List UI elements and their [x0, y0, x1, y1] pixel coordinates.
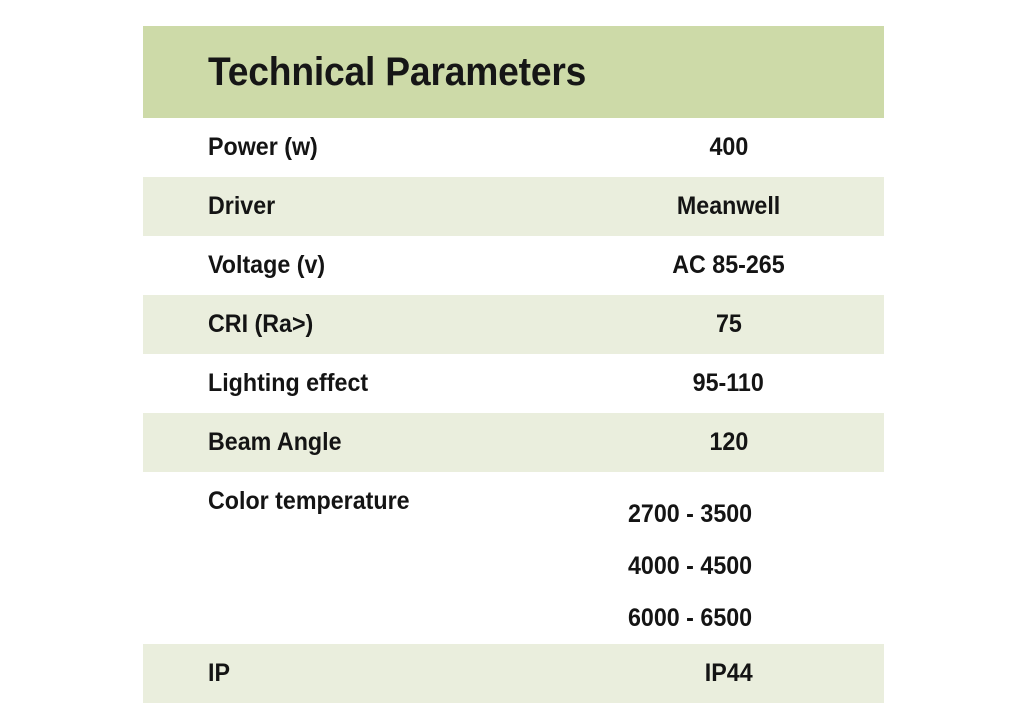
row-value: 120	[709, 430, 748, 455]
table-row: Beam Angle 120	[143, 413, 884, 472]
row-label: Color temperature	[208, 489, 410, 514]
row-value: 75	[716, 312, 742, 337]
row-value: IP44	[705, 661, 753, 686]
row-value-line: 2700 - 3500	[628, 488, 752, 540]
row-value-cell: 400	[573, 118, 884, 177]
row-label-cell: Voltage (v)	[143, 236, 573, 295]
table-row: IP IP44	[143, 644, 884, 703]
row-label: Voltage (v)	[208, 253, 325, 278]
row-label: CRI (Ra>)	[208, 312, 313, 337]
row-label: Driver	[208, 194, 275, 219]
table-row: Power (w) 400	[143, 118, 884, 177]
row-value: 95-110	[693, 371, 764, 396]
technical-parameters-table: Technical Parameters Power (w) 400 Drive…	[143, 26, 884, 703]
row-value-cell: AC 85-265	[573, 236, 884, 295]
table-row: CRI (Ra>) 75	[143, 295, 884, 354]
row-label-cell: Driver	[143, 177, 573, 236]
row-value-line: 6000 - 6500	[628, 592, 752, 644]
row-label-cell: Lighting effect	[143, 354, 573, 413]
table-row: Lighting effect 95-110	[143, 354, 884, 413]
row-value-line: 4000 - 4500	[628, 540, 752, 592]
table-row: Color temperature 2700 - 3500 4000 - 450…	[143, 472, 884, 644]
row-label: Power (w)	[208, 135, 318, 160]
row-value: AC 85-265	[672, 253, 784, 278]
row-value-cell: IP44	[573, 644, 884, 703]
row-label-cell: Color temperature	[143, 472, 573, 644]
table-row: Driver Meanwell	[143, 177, 884, 236]
table-header: Technical Parameters	[143, 26, 884, 118]
row-value-cell: 2700 - 3500 4000 - 4500 6000 - 6500	[573, 472, 884, 644]
row-label: IP	[208, 661, 230, 686]
row-label-cell: IP	[143, 644, 573, 703]
table-row: Voltage (v) AC 85-265	[143, 236, 884, 295]
row-value-cell: 120	[573, 413, 884, 472]
row-label: Beam Angle	[208, 430, 342, 455]
row-value: 400	[709, 135, 748, 160]
row-value-cell: Meanwell	[573, 177, 884, 236]
page-title: Technical Parameters	[208, 52, 586, 92]
row-value: Meanwell	[677, 194, 780, 219]
row-label-cell: CRI (Ra>)	[143, 295, 573, 354]
row-label-cell: Beam Angle	[143, 413, 573, 472]
row-value-cell: 75	[573, 295, 884, 354]
row-label: Lighting effect	[208, 371, 368, 396]
row-label-cell: Power (w)	[143, 118, 573, 177]
row-value-cell: 95-110	[573, 354, 884, 413]
